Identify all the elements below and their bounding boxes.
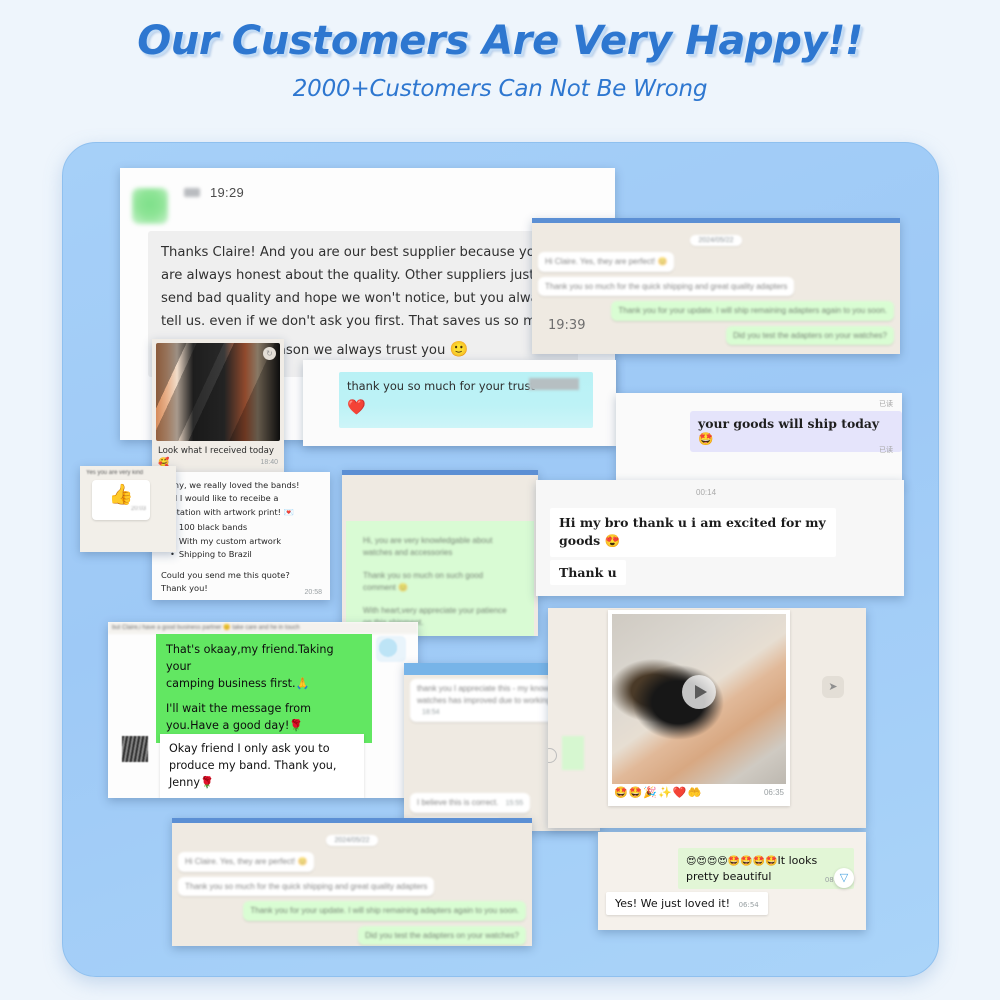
testimonial-card-pretty-beautiful[interactable]: 😍😍😍😍🤩🤩🤩🤩It looks pretty beautiful 08:31 … [598,832,866,930]
bro-emoji: 😍 [605,533,621,548]
thumbs-timestamp: 20:03 [92,506,150,512]
watches-line-4: I believe this is correct. [417,798,498,807]
crown-emojis: 😍😍😍😍🤩🤩🤩🤩 [686,856,778,867]
testimonial-card-photo[interactable]: Look what I received today 🥰 18:40 ↻ [152,339,284,473]
conversation-timestamp: 00:14 [696,488,716,497]
bro-reply-bubble: Thank u [550,560,626,585]
ship-message-bubble: your goods will ship today🤩 [690,411,902,452]
read-receipt-label: 已读 [879,445,893,455]
testimonial-card-video[interactable]: 🤩🤩🎉✨❤️🤲 06:35 ➤ [548,608,866,828]
page-subtitle: 2000+Customers Can Not Be Wrong [0,64,1000,102]
quote-timestamp: 20:58 [304,589,322,596]
avatar [132,188,168,224]
chat-bubble-incoming: I believe this is correct. 15:55 [410,793,530,813]
video-reaction-emojis: 🤩🤩🎉✨❤️🤲 [614,786,702,799]
camping-line-4: you.Have a good day! [166,719,289,732]
camping-line-3: I'll wait the message from [166,701,362,718]
video-message[interactable]: 🤩🤩🎉✨❤️🤲 06:35 [608,610,790,806]
play-icon[interactable] [682,675,716,709]
watches-time-1: 18:54 [422,709,440,716]
chat-bubble-outgoing: Did you test the adapters on your watche… [358,926,526,946]
window-title-bar [172,818,532,823]
testimonial-card-whatsapp-bottom[interactable]: 2024/05/22 Hi Claire. Yes, they are perf… [172,818,532,946]
video-footer: 🤩🤩🎉✨❤️🤲 06:35 [608,784,790,799]
rose-emoji: 🌹 [200,776,214,789]
rose-emoji: 🌹 [289,719,303,732]
camping-line-1: That's okaay,my friend.Taking your [166,642,362,676]
testimonial-card-good-comment[interactable]: Hi, you are very knowledgable about watc… [342,470,538,636]
date-chip: 2024/05/22 [326,835,377,846]
photo-timestamp: 18:40 [260,459,278,466]
quote-bullet: With my custom artwork [170,535,321,548]
date-chip: 2024/05/22 [690,235,741,246]
loved-it-timestamp: 06:54 [739,901,759,909]
quote-bullet-list: 100 black bands With my custom artwork S… [161,521,321,561]
quote-bullet: 100 black bands [170,521,321,534]
watches-line-1: thank you I appreciate this - my [417,684,528,693]
whatsapp-conversation: 2024/05/22 Hi Claire. Yes, they are perf… [532,218,900,354]
avatar [122,736,148,762]
message-timestamp: 19:29 [210,185,244,200]
page-title: Our Customers Are Very Happy!! [0,0,1000,64]
photo-caption: Look what I received today [158,446,284,456]
received-bands-photo [156,343,280,441]
quote-line-3: quotation with artwork print! 💌 [161,506,321,519]
whatsapp-conversation: Hi, you are very knowledgable about watc… [342,470,538,636]
incoming-bubble: Yes! We just loved it! 06:54 [606,892,768,915]
whatsapp-conversation: 2024/05/22 Hi Claire. Yes, they are perf… [172,818,532,946]
screenshot-timestamp: 19:39 [548,318,585,333]
trust-message: thank you so much for your trust [347,379,535,393]
chevron-down-icon[interactable]: ▽ [834,868,854,888]
outgoing-bubble: 😍😍😍😍🤩🤩🤩🤩It looks pretty beautiful 08:31 [678,848,854,889]
thumbs-bubble: 👍 20:03 [92,480,150,520]
chat-bubble-incoming: Thank you so much for the quick shipping… [178,877,434,897]
chat-bubble-incoming: Hi Claire. Yes, they are perfect! 😊 [178,852,314,872]
testimonial-card-thumbsup[interactable]: Yes you are very kind 👍 20:03 [80,466,176,552]
sender-row: 19:29 [184,182,244,200]
resend-icon[interactable]: ↻ [263,347,276,360]
quote-line-2: And I would like to receibe a [161,492,321,505]
sticker-image [376,636,406,662]
smile-emoji: 🙂 [450,336,469,362]
quote-line-1: Jenny, we really loved the bands! [161,479,321,492]
forward-arrow-icon[interactable]: ➤ [822,676,844,698]
sender-name-redacted [184,188,200,197]
chat-bubble-outgoing: Thank you for your update. I will ship r… [611,301,894,321]
chat-bubble-outgoing: Hi, you are very knowledgable about watc… [356,531,524,562]
window-title-bar [532,218,900,223]
chat-bubble-outgoing: Did you test the adapters on your watche… [726,326,894,346]
heart-icon: ❤️ [347,398,366,416]
thumbs-header-text: Yes you are very kind [80,466,176,476]
quote-line-4: Could you send me this quote? [161,569,321,582]
band-line-1: Okay friend I only ask you to [169,741,355,758]
read-receipt-label: 已读 [879,399,893,409]
camping-top-note: but Claire,i have a good business partne… [108,622,418,634]
watches-time-2: 15:55 [506,800,524,807]
bro-message-text: Hi my bro thank u i am excited for my go… [559,515,826,548]
outgoing-green-bubble: That's okaay,my friend.Taking your campi… [156,634,372,743]
band-line-2: produce my band. Thank you, [169,758,355,775]
background-green-bubble [562,736,584,770]
chat-bubble-incoming: Thank you so much for the quick shipping… [538,277,794,297]
testimonial-card-quotation[interactable]: Jenny, we really loved the bands! And I … [152,472,330,600]
testimonial-card-hi-my-bro[interactable]: 00:14 Hi my bro thank u i am excited for… [536,480,904,596]
bro-message-bubble: Hi my bro thank u i am excited for my go… [550,508,836,557]
chat-bubble-outgoing: Thank you for your update. I will ship r… [243,901,526,921]
redacted-name [529,378,579,390]
quotation-message: Jenny, we really loved the bands! And I … [152,472,330,596]
page-header: Our Customers Are Very Happy!! 2000+Cust… [0,0,1000,130]
smartwatch-wrist-photo [612,614,786,784]
pray-emoji: 🙏 [296,677,310,690]
video-timestamp: 06:35 [764,788,784,797]
ship-emoji: 🤩 [698,431,713,446]
testimonial-card-ship-today[interactable]: 已读 your goods will ship today🤩 已读 [616,393,902,485]
chat-header: 19:29 [120,168,615,224]
band-line-3: Jenny [169,776,200,789]
testimonial-card-whatsapp-top[interactable]: 2024/05/22 Hi Claire. Yes, they are perf… [532,218,900,354]
record-icon [548,748,557,763]
testimonial-card-camping[interactable]: but Claire,i have a good business partne… [108,622,418,798]
testimonial-card-trust[interactable]: thank you so much for your trust ❤️ [303,360,616,446]
camping-line-2: camping business first. [166,677,296,690]
ship-message-text: your goods will ship today [698,416,879,431]
chat-bubble-incoming: Hi Claire. Yes, they are perfect! 😊 [538,252,674,272]
loved-it-text: Yes! We just loved it! [615,897,730,910]
chat-bubble-outgoing: Thank you so much on such good comment 😊 [356,566,524,597]
quote-bullet: Shipping to Brazil [170,548,321,561]
incoming-white-bubble: Okay friend I only ask you to produce my… [160,734,364,798]
quote-line-5: Thank you! [161,582,321,595]
